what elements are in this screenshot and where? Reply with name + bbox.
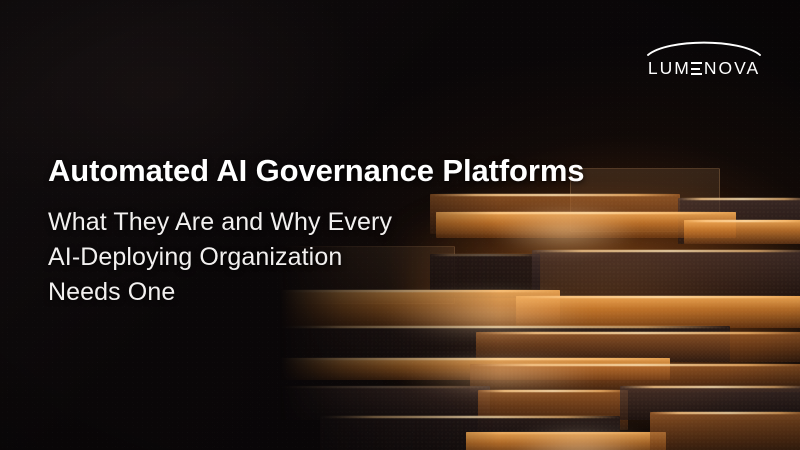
bar-e-glyph (691, 62, 702, 75)
page-subtitle: What They Are and Why Every AI-Deploying… (48, 205, 648, 310)
wordmark-part-before-e: LUM (648, 58, 691, 78)
subtitle-line-3: Needs One (48, 275, 648, 310)
wordmark-part-after-e: NOVA (704, 58, 760, 78)
arc-swoosh-icon (646, 36, 762, 58)
lumenova-logo[interactable]: LUMNOVA (646, 36, 762, 86)
page-title: Automated AI Governance Platforms (48, 152, 648, 190)
hero-text-block: Automated AI Governance Platforms What T… (48, 152, 648, 310)
graphic-bar (684, 220, 800, 244)
lumenova-wordmark: LUMNOVA (646, 58, 762, 78)
graphic-bar (650, 412, 800, 450)
subtitle-line-2: AI-Deploying Organization (48, 240, 648, 275)
graphic-bar (280, 386, 490, 420)
subtitle-line-1: What They Are and Why Every (48, 205, 648, 240)
graphic-bar (466, 432, 666, 450)
hero-banner: LUMNOVA Automated AI Governance Platform… (0, 0, 800, 450)
